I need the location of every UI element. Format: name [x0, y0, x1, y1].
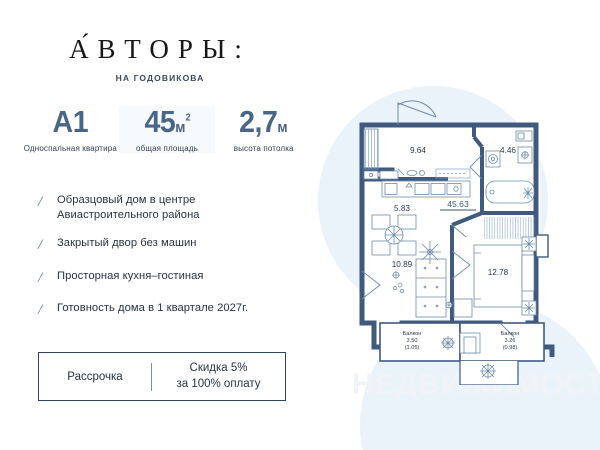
slash-icon: / — [38, 236, 57, 256]
discount-label: Скидка 5% за 100% оплату — [152, 361, 285, 392]
stat-value: 2,7м — [219, 106, 308, 137]
room-area-label: 9.64 — [410, 146, 426, 155]
balcony-title: Балкон — [403, 331, 422, 337]
stat-total-area: 45м2 общая площадь — [119, 106, 216, 153]
feature-list: / Образцовый дом в центре Авиастроительн… — [38, 193, 303, 334]
stat-value: А1 — [26, 106, 115, 137]
page-title: А́ВТОРЫ: — [30, 36, 290, 63]
feature-text: Готовность дома в 1 квартале 2027г. — [57, 301, 248, 316]
stat-caption: общая площадь — [119, 144, 216, 153]
promo-card: НЕДВИЖИМОСТЬ А́ВТОРЫ: НА ГОДОВИКОВА А1 О… — [0, 0, 600, 450]
slash-icon: / — [38, 301, 57, 321]
kitchen-counter — [382, 181, 470, 197]
stat-apartment-type: А1 Односпальная квартира — [22, 106, 119, 153]
feature-text: Образцовый дом в центре Авиастроительног… — [57, 193, 200, 223]
window-right — [536, 235, 548, 257]
balcony-reduced: (0.98) — [503, 345, 518, 351]
balcony-area: 3.50 — [407, 338, 418, 344]
room-area-label: 4.46 — [500, 146, 516, 155]
balcony-title: Балкон — [501, 331, 520, 337]
balcony-reduced: (1.05) — [405, 345, 420, 351]
stat-caption: Односпальная квартира — [22, 144, 119, 153]
kitchen-sink-upper — [364, 171, 398, 179]
shelf-unit — [416, 259, 446, 317]
slash-icon: / — [38, 269, 57, 289]
info-panel: А́ВТОРЫ: НА ГОДОВИКОВА А1 Односпальная к… — [0, 0, 330, 450]
feature-text: Просторная кухня–гостиная — [57, 269, 204, 284]
list-item: / Закрытый двор без машин — [38, 236, 303, 256]
stat-ceiling-height: 2,7м высота потолка — [215, 106, 312, 153]
slash-icon: / — [38, 193, 57, 213]
balcony-area: 3.26 — [505, 338, 516, 344]
room-area-label: 10.89 — [392, 260, 413, 269]
list-item: / Просторная кухня–гостиная — [38, 269, 303, 289]
list-item: / Образцовый дом в центре Авиастроительн… — [38, 193, 303, 223]
stats-row: А1 Односпальная квартира 45м2 общая площ… — [22, 106, 312, 153]
offer-box[interactable]: Рассрочка Скидка 5% за 100% оплату — [38, 352, 286, 401]
room-area-label: 12.78 — [488, 268, 509, 277]
room-area-label: 5.83 — [394, 204, 410, 213]
feature-text: Закрытый двор без машин — [57, 236, 197, 251]
stat-value: 45м2 — [123, 106, 212, 137]
floor-plan[interactable]: 9.64 4.46 5.83 10.89 12.78 45.63 Балкон … — [340, 95, 580, 385]
list-item: / Готовность дома в 1 квартале 2027г. — [38, 301, 303, 321]
window-left — [364, 129, 378, 169]
window-bath — [484, 217, 536, 229]
brand-block: А́ВТОРЫ: НА ГОДОВИКОВА — [30, 36, 290, 83]
brand-subtitle: НА ГОДОВИКОВА — [30, 73, 290, 83]
entry-door — [398, 101, 436, 125]
total-area-label: 45.63 — [447, 199, 469, 209]
stat-caption: высота потолка — [215, 144, 312, 153]
installment-label: Рассрочка — [39, 371, 151, 383]
